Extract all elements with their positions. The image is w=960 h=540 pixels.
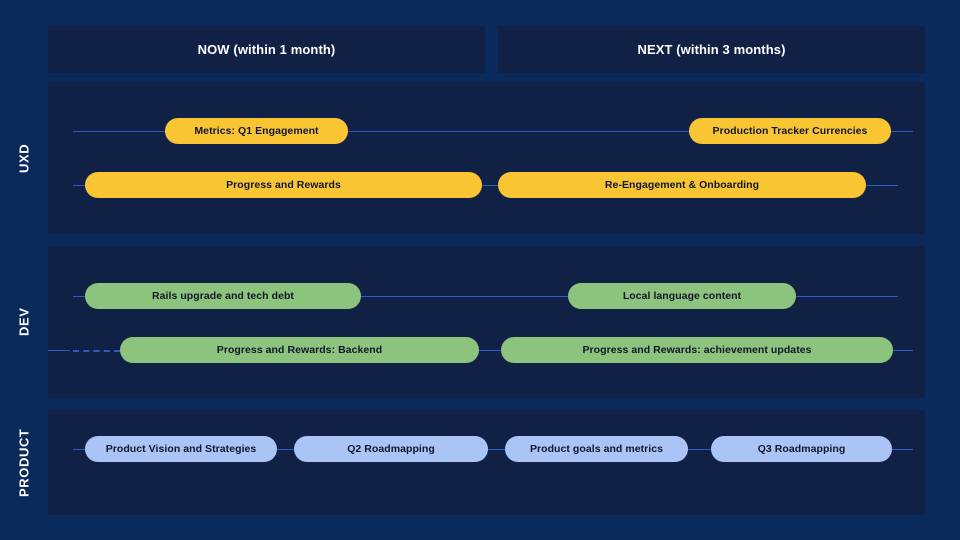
connector-uxd-1b bbox=[348, 131, 689, 132]
connector-product-d bbox=[688, 449, 711, 450]
column-header-band: NOW (within 1 month) NEXT (within 3 mont… bbox=[0, 26, 960, 73]
roadmap-item-product-q2-roadmapping[interactable]: Q2 Roadmapping bbox=[294, 436, 488, 462]
roadmap-item-product-q3-roadmapping[interactable]: Q3 Roadmapping bbox=[711, 436, 892, 462]
roadmap-item-label: Q3 Roadmapping bbox=[758, 443, 846, 455]
connector-dev-2d bbox=[893, 350, 913, 351]
roadmap-item-product-product-goals-and-metrics[interactable]: Product goals and metrics bbox=[505, 436, 688, 462]
connector-dev-2c bbox=[48, 350, 70, 351]
connector-dev-2b bbox=[479, 350, 501, 351]
connector-dev-2a bbox=[73, 350, 120, 352]
roadmap-item-label: Q2 Roadmapping bbox=[347, 443, 435, 455]
roadmap-item-label: Product Vision and Strategies bbox=[106, 443, 257, 455]
connector-uxd-1c bbox=[891, 131, 913, 132]
roadmap-item-dev-progress-and-rewards-backend[interactable]: Progress and Rewards: Backend bbox=[120, 337, 479, 363]
lane-product: Product Vision and Strategies Q2 Roadmap… bbox=[48, 410, 925, 515]
lane-label-product: PRODUCT bbox=[0, 410, 48, 515]
roadmap-board: NOW (within 1 month) NEXT (within 3 mont… bbox=[0, 0, 960, 540]
roadmap-item-dev-rails-upgrade-and-tech-debt[interactable]: Rails upgrade and tech debt bbox=[85, 283, 361, 309]
connector-dev-1c bbox=[796, 296, 898, 297]
connector-dev-1a bbox=[73, 296, 85, 297]
roadmap-item-label: Progress and Rewards: achievement update… bbox=[582, 344, 811, 356]
lane-dev: Rails upgrade and tech debt Local langua… bbox=[48, 246, 925, 398]
roadmap-item-uxd-production-tracker-currencies[interactable]: Production Tracker Currencies bbox=[689, 118, 891, 144]
roadmap-item-label: Metrics: Q1 Engagement bbox=[194, 125, 318, 137]
connector-dev-1b bbox=[361, 296, 568, 297]
roadmap-item-label: Progress and Rewards: Backend bbox=[217, 344, 382, 356]
roadmap-item-label: Progress and Rewards bbox=[226, 179, 341, 191]
connector-uxd-2a bbox=[73, 185, 85, 186]
roadmap-item-label: Product goals and metrics bbox=[530, 443, 663, 455]
roadmap-item-label: Re-Engagement & Onboarding bbox=[605, 179, 759, 191]
connector-uxd-2c bbox=[866, 185, 898, 186]
column-header-next[interactable]: NEXT (within 3 months) bbox=[498, 26, 925, 73]
roadmap-item-uxd-re-engagement-onboarding[interactable]: Re-Engagement & Onboarding bbox=[498, 172, 866, 198]
column-header-now-label: NOW (within 1 month) bbox=[198, 42, 336, 57]
roadmap-item-uxd-progress-and-rewards[interactable]: Progress and Rewards bbox=[85, 172, 482, 198]
column-header-now[interactable]: NOW (within 1 month) bbox=[48, 26, 485, 73]
roadmap-item-label: Production Tracker Currencies bbox=[713, 125, 868, 137]
connector-product-a bbox=[73, 449, 85, 450]
connector-uxd-2b bbox=[482, 185, 498, 186]
roadmap-item-dev-progress-and-rewards-achievement-updates[interactable]: Progress and Rewards: achievement update… bbox=[501, 337, 893, 363]
roadmap-item-uxd-metrics-q1-engagement[interactable]: Metrics: Q1 Engagement bbox=[165, 118, 348, 144]
column-header-next-label: NEXT (within 3 months) bbox=[637, 42, 785, 57]
connector-product-e bbox=[892, 449, 913, 450]
connector-product-b bbox=[277, 449, 294, 450]
lane-label-dev: DEV bbox=[0, 246, 48, 398]
roadmap-item-label: Rails upgrade and tech debt bbox=[152, 290, 294, 302]
lane-uxd: Metrics: Q1 Engagement Production Tracke… bbox=[48, 82, 925, 234]
lane-label-uxd: UXD bbox=[0, 82, 48, 234]
connector-product-c bbox=[488, 449, 505, 450]
roadmap-item-dev-local-language-content[interactable]: Local language content bbox=[568, 283, 796, 309]
roadmap-item-product-product-vision-and-strategies[interactable]: Product Vision and Strategies bbox=[85, 436, 277, 462]
roadmap-item-label: Local language content bbox=[623, 290, 741, 302]
